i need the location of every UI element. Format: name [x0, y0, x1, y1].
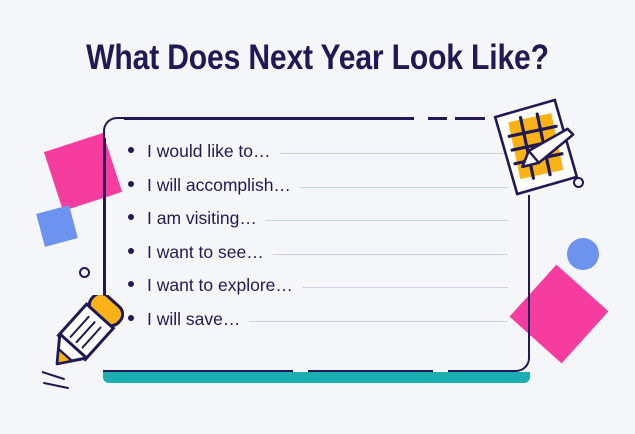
frame-edge-top [124, 117, 414, 120]
write-in-rule[interactable] [300, 187, 508, 188]
write-in-rule[interactable] [273, 254, 508, 255]
list-item: I am visiting… [128, 208, 508, 242]
list-item-label: I would like to… [147, 141, 271, 162]
page-title: What Does Next Year Look Like? [44, 38, 590, 78]
bullet-icon [128, 248, 134, 254]
list-item-label: I want to explore… [147, 275, 293, 296]
bullet-icon [128, 281, 134, 287]
list-item: I will accomplish… [128, 175, 508, 209]
frame-corner-top-left [103, 117, 125, 139]
frame-edge-top-dash [455, 117, 485, 120]
worksheet-canvas: What Does Next Year Look Like? I would l… [0, 0, 635, 434]
bullet-icon [128, 147, 134, 153]
list-item-label: I will accomplish… [147, 175, 291, 196]
frame-corner-bottom-right [508, 350, 530, 372]
list-item: I want to see… [128, 242, 508, 276]
list-item-label: I will save… [147, 309, 240, 330]
list-item: I want to explore… [128, 275, 508, 309]
teal-accent-bar [103, 372, 530, 383]
blue-square-decoration-left [36, 205, 78, 247]
list-item: I would like to… [128, 141, 508, 175]
prompt-list: I would like to… I will accomplish… I am… [128, 141, 508, 342]
frame-edge-top-dash [428, 117, 447, 120]
calendar-with-pen-icon [487, 97, 585, 197]
write-in-rule[interactable] [266, 220, 508, 221]
blue-circle-decoration-right [567, 238, 599, 270]
small-ring-decoration-left [79, 267, 90, 278]
list-item-label: I want to see… [147, 242, 264, 263]
bullet-icon [128, 214, 134, 220]
frame-edge-right [528, 195, 531, 350]
pencil-icon [42, 295, 142, 395]
write-in-rule[interactable] [249, 321, 508, 322]
list-item: I will save… [128, 309, 508, 343]
bullet-icon [128, 181, 134, 187]
write-in-rule[interactable] [280, 153, 508, 154]
list-item-label: I am visiting… [147, 208, 257, 229]
write-in-rule[interactable] [302, 287, 508, 288]
